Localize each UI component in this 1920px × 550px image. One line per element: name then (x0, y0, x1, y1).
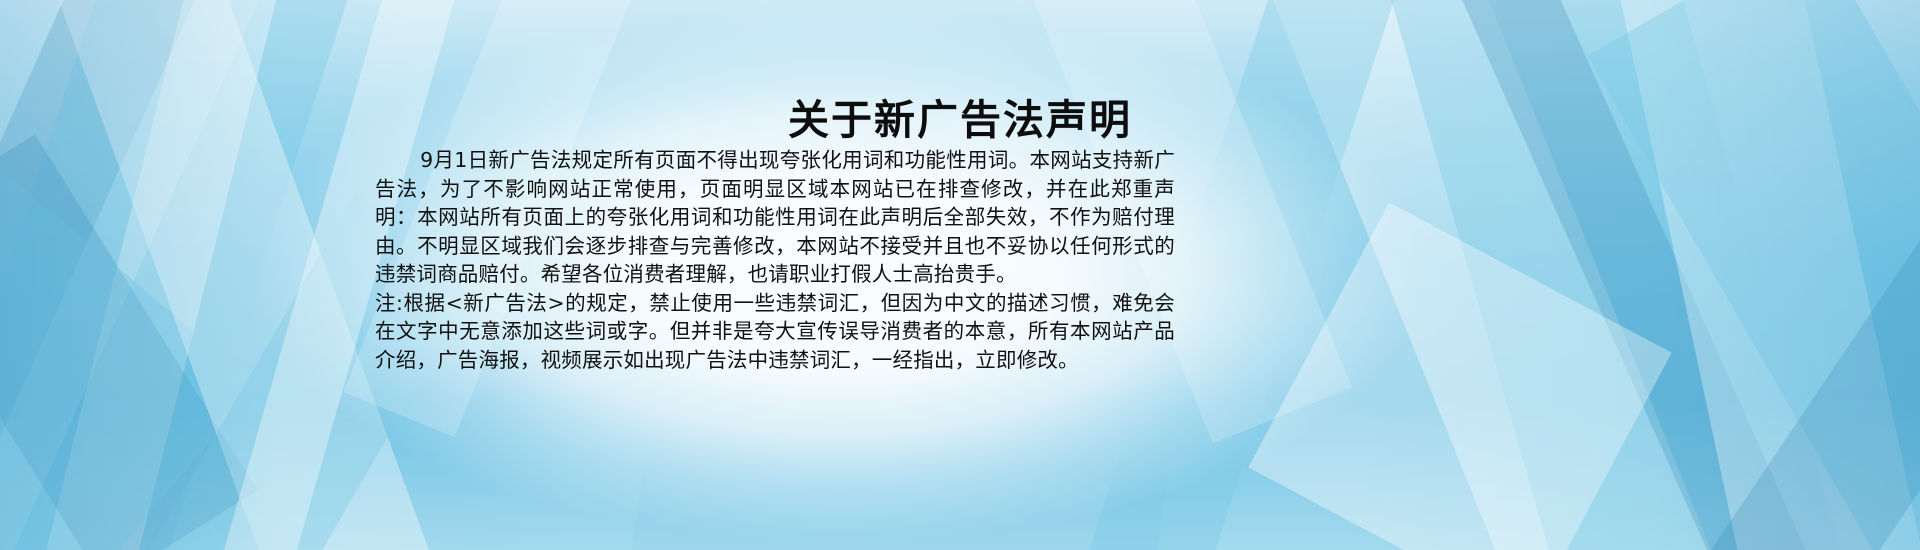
statement-paragraph-note: 注:根据<新广告法>的规定，禁止使用一些违禁词汇，但因为中文的描述习惯，难免会在… (375, 289, 1175, 375)
advertising-law-statement-banner: 关于新广告法声明 9月1日新广告法规定所有页面不得出现夸张化用词和功能性用词。本… (0, 0, 1920, 550)
statement-body: 9月1日新广告法规定所有页面不得出现夸张化用词和功能性用词。本网站支持新广告法，… (375, 146, 1175, 374)
statement-paragraph-main: 9月1日新广告法规定所有页面不得出现夸张化用词和功能性用词。本网站支持新广告法，… (375, 146, 1175, 289)
page-title: 关于新广告法声明 (0, 86, 1920, 146)
statement-content: 关于新广告法声明 9月1日新广告法规定所有页面不得出现夸张化用词和功能性用词。本… (0, 0, 1920, 550)
